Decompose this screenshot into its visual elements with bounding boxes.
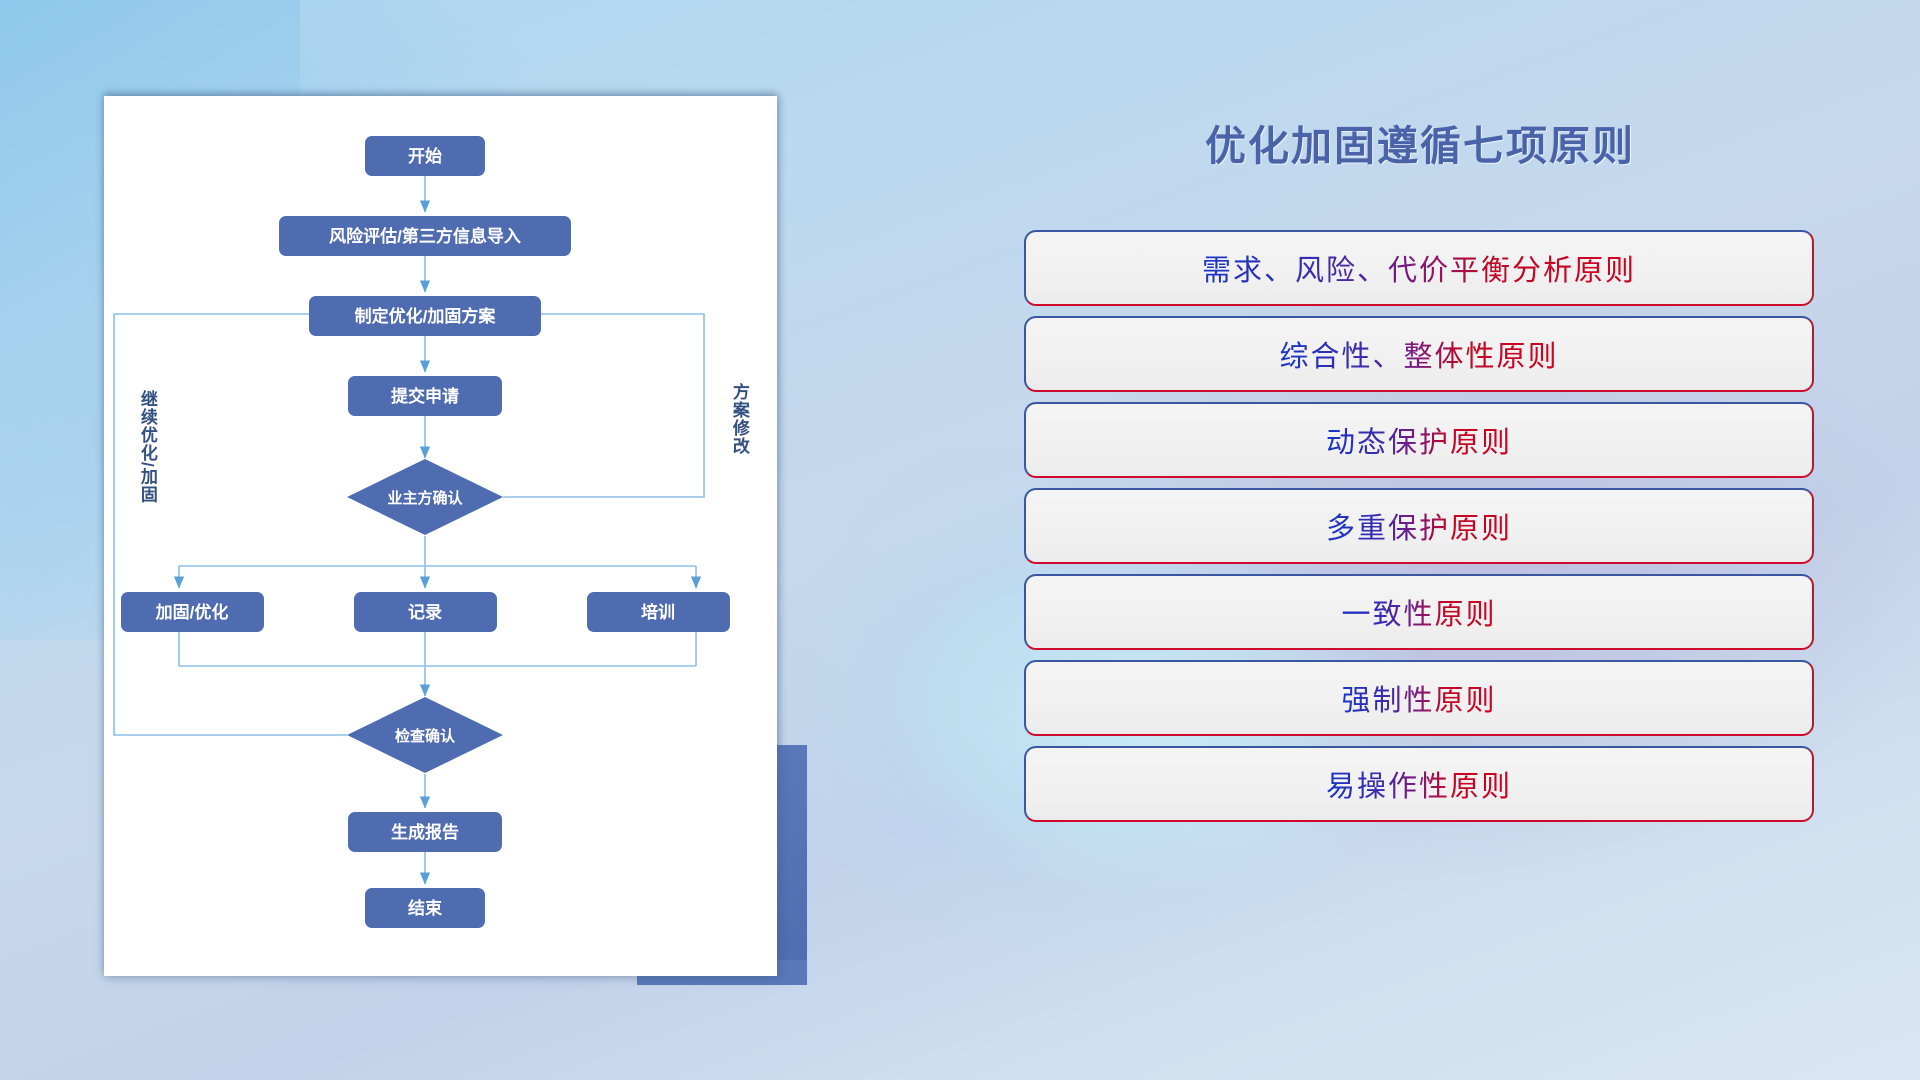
principle-item[interactable]: 易操作性原则 — [1024, 746, 1814, 822]
principle-item-label: 一致性原则 — [1341, 591, 1496, 633]
flow-node-end-label: 结束 — [408, 898, 442, 918]
flow-node-report-label: 生成报告 — [391, 822, 459, 842]
flowchart-card: 开始 风险评估/第三方信息导入 制定优化/加固方案 提交申请 业主方确认 加固/… — [104, 96, 777, 976]
flow-node-record-label: 记录 — [408, 603, 442, 622]
principle-item[interactable]: 一致性原则 — [1024, 574, 1814, 650]
flow-node-risk-label: 风险评估/第三方信息导入 — [329, 226, 521, 246]
principle-item-label: 强制性原则 — [1341, 677, 1496, 719]
principles-panel: 优化加固遵循七项原则 需求、风险、代价平衡分析原则 综合性、整体性原则 动态保护… — [1020, 96, 1820, 1016]
principle-item[interactable]: 强制性原则 — [1024, 660, 1814, 736]
flowchart-diagram: 开始 风险评估/第三方信息导入 制定优化/加固方案 提交申请 业主方确认 加固/… — [104, 96, 777, 976]
principle-item[interactable]: 动态保护原则 — [1024, 402, 1814, 478]
flow-node-confirm-label: 业主方确认 — [387, 489, 463, 507]
principle-item[interactable]: 多重保护原则 — [1024, 488, 1814, 564]
principle-item-label: 多重保护原则 — [1326, 505, 1512, 547]
principle-item[interactable]: 综合性、整体性原则 — [1024, 316, 1814, 392]
principles-list: 需求、风险、代价平衡分析原则 综合性、整体性原则 动态保护原则 多重保护原则 一… — [1024, 230, 1814, 832]
principle-item-label: 动态保护原则 — [1326, 419, 1512, 461]
flow-node-plan-label: 制定优化/加固方案 — [355, 306, 497, 326]
principle-item[interactable]: 需求、风险、代价平衡分析原则 — [1024, 230, 1814, 306]
flow-node-check-label: 检查确认 — [395, 727, 456, 745]
flow-node-start-label: 开始 — [408, 146, 442, 166]
principle-item-label: 综合性、整体性原则 — [1279, 333, 1558, 375]
flow-node-train-label: 培训 — [641, 602, 675, 622]
panel-title: 优化加固遵循七项原则 — [1020, 112, 1820, 172]
flow-node-submit-label: 提交申请 — [391, 386, 459, 406]
principle-item-label: 需求、风险、代价平衡分析原则 — [1202, 247, 1636, 289]
principle-item-label: 易操作性原则 — [1326, 763, 1512, 805]
flow-edge-label-revise: 方案修改 — [730, 383, 748, 455]
flow-edge-label-continue: 继续优化/加固 — [138, 390, 156, 504]
flow-node-reinforce-label: 加固/优化 — [155, 602, 229, 622]
